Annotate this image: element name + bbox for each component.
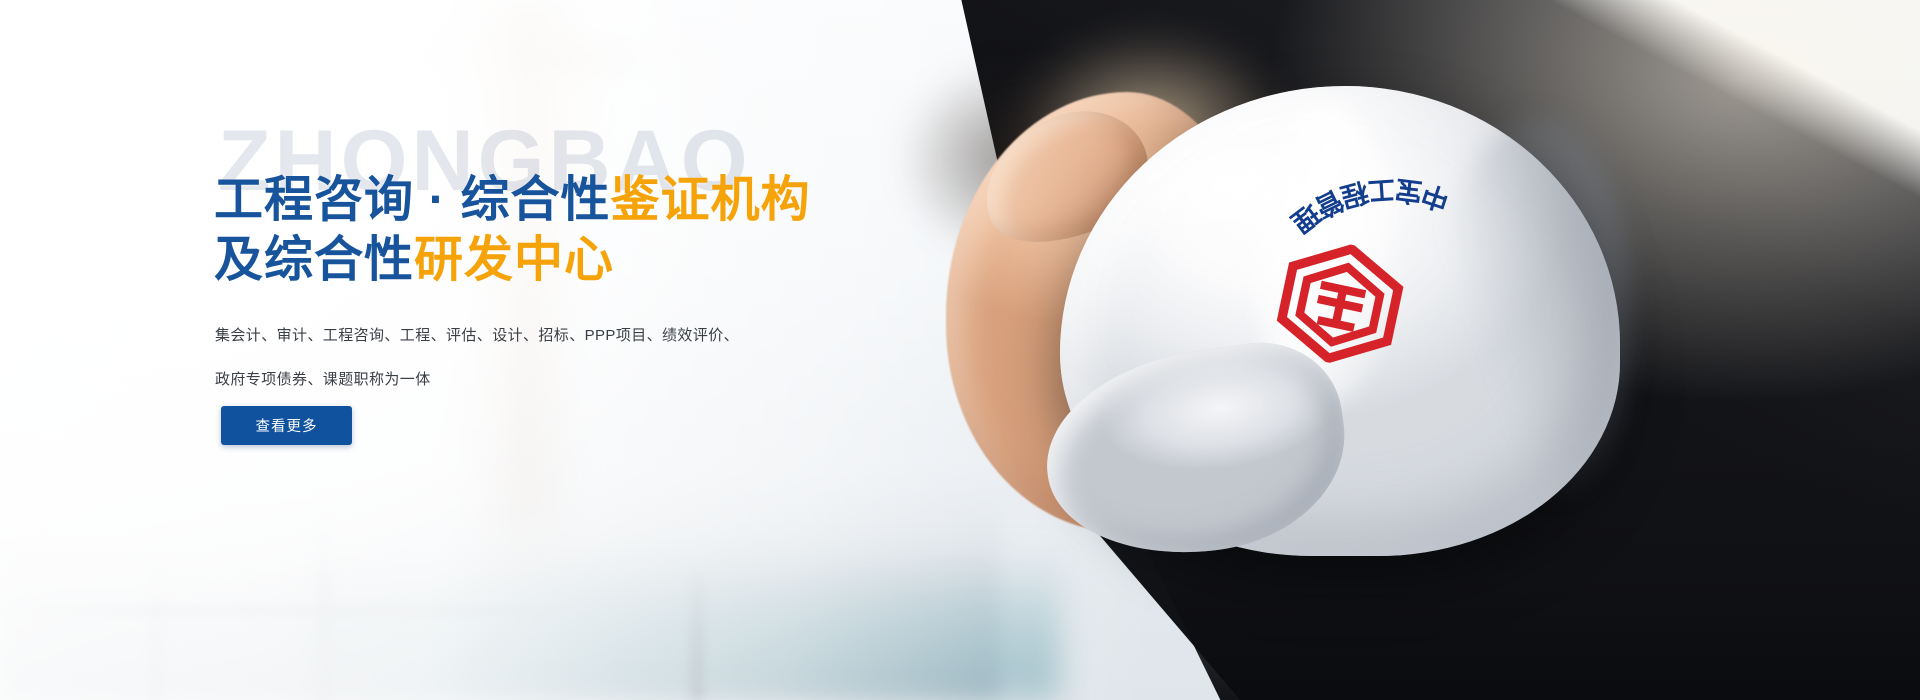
hero-content: ZHONGBAO 工程咨询 · 综合性鉴证机构 及综合性研发中心 集会计、审计、… <box>0 0 1920 700</box>
hero-subtitle: 集会计、审计、工程咨询、工程、评估、设计、招标、PPP项目、绩效评价、 政府专项… <box>215 314 835 402</box>
hero-banner: 中宝工程管理 ZHONGBAO 工程咨询 · 综合性鉴证机构 及综合性研发中心 … <box>0 0 1920 700</box>
headline-line-1-blue: 工程咨询 · 综合性 <box>214 173 611 227</box>
headline-line-2-orange: 研发中心 <box>414 233 614 287</box>
headline-line-1-orange: 鉴证机构 <box>611 173 811 227</box>
subtitle-line-2: 政府专项债券、课题职称为一体 <box>215 358 835 402</box>
subtitle-line-1: 集会计、审计、工程咨询、工程、评估、设计、招标、PPP项目、绩效评价、 <box>215 314 835 358</box>
view-more-button[interactable]: 查看更多 <box>221 406 352 445</box>
headline-line-2-blue: 及综合性 <box>214 233 414 287</box>
headline-line-2: 及综合性研发中心 <box>214 230 811 290</box>
hero-headline: 工程咨询 · 综合性鉴证机构 及综合性研发中心 <box>214 170 811 290</box>
headline-line-1: 工程咨询 · 综合性鉴证机构 <box>214 170 811 230</box>
